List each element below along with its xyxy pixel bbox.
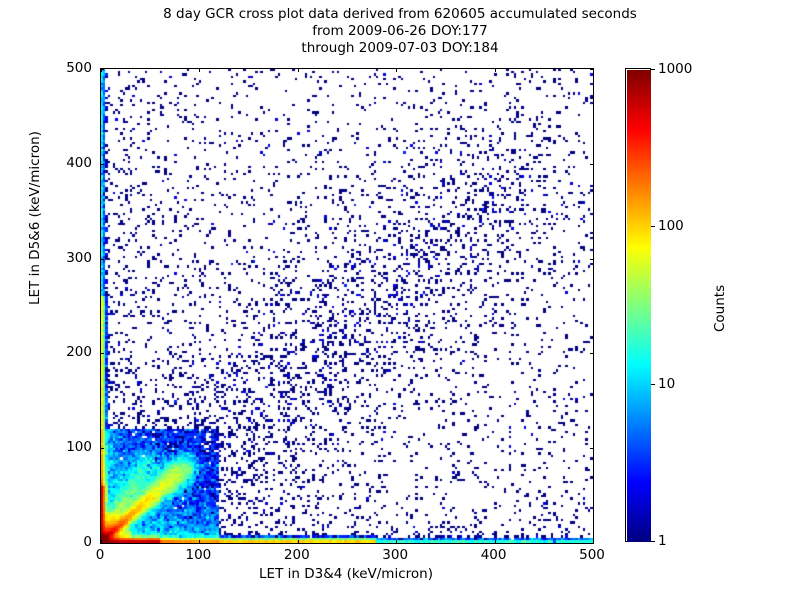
y-tick-200 [100, 353, 104, 354]
y-tick-0 [100, 543, 104, 544]
y-tick-300 [100, 259, 104, 260]
x-axis-label: LET in D3&4 (keV/micron) [100, 566, 592, 582]
x-tick-label-0: 0 [96, 547, 105, 563]
x-tick-label-300: 300 [382, 547, 408, 563]
y-tick-500 [100, 69, 104, 70]
y-tick-right-0 [590, 543, 594, 544]
x-tick-400 [495, 540, 496, 544]
colorbar-label: Counts [712, 285, 728, 332]
plot-area [100, 68, 594, 544]
colorbar-tick-100 [651, 226, 655, 227]
x-tick-label-100: 100 [186, 547, 212, 563]
y-tick-right-300 [590, 259, 594, 260]
x-tick-label-500: 500 [579, 547, 605, 563]
y-tick-label-400: 400 [0, 155, 92, 171]
y-tick-right-100 [590, 448, 594, 449]
y-tick-100 [100, 448, 104, 449]
chart-title: 8 day GCR cross plot data derived from 6… [0, 6, 800, 57]
y-tick-right-500 [590, 69, 594, 70]
y-tick-label-500: 500 [0, 60, 92, 76]
y-tick-label-300: 300 [0, 250, 92, 266]
colorbar: 1101001000 [625, 68, 651, 542]
colorbar-gradient [625, 68, 651, 542]
chart-title-line-1: 8 day GCR cross plot data derived from 6… [0, 6, 800, 23]
colorbar-tick-10 [651, 384, 655, 385]
x-tick-label-400: 400 [481, 547, 507, 563]
colorbar-tick-label-100: 100 [658, 218, 684, 234]
y-tick-400 [100, 164, 104, 165]
x-tick-label-200: 200 [284, 547, 310, 563]
colorbar-tick-label-1: 1 [658, 533, 667, 549]
scatter-plot-points [101, 69, 593, 543]
colorbar-canvas [627, 70, 651, 542]
chart-title-line-3: through 2009-07-03 DOY:184 [0, 40, 800, 57]
x-tick-300 [396, 540, 397, 544]
chart-title-line-2: from 2009-06-26 DOY:177 [0, 23, 800, 40]
x-tick-top-300 [396, 68, 397, 72]
x-tick-200 [298, 540, 299, 544]
y-tick-right-400 [590, 164, 594, 165]
y-tick-label-100: 100 [0, 439, 92, 455]
y-axis-label: LET in D5&6 (keV/micron) [27, 131, 43, 305]
colorbar-tick-1 [651, 541, 655, 542]
y-tick-right-200 [590, 353, 594, 354]
x-tick-100 [199, 540, 200, 544]
x-tick-top-200 [298, 68, 299, 72]
figure-canvas: 8 day GCR cross plot data derived from 6… [0, 0, 800, 600]
colorbar-tick-1000 [651, 69, 655, 70]
colorbar-tick-label-10: 10 [658, 376, 675, 392]
x-tick-top-100 [199, 68, 200, 72]
y-tick-label-0: 0 [0, 534, 92, 550]
x-tick-top-400 [495, 68, 496, 72]
colorbar-tick-label-1000: 1000 [658, 61, 692, 77]
y-tick-label-200: 200 [0, 344, 92, 360]
